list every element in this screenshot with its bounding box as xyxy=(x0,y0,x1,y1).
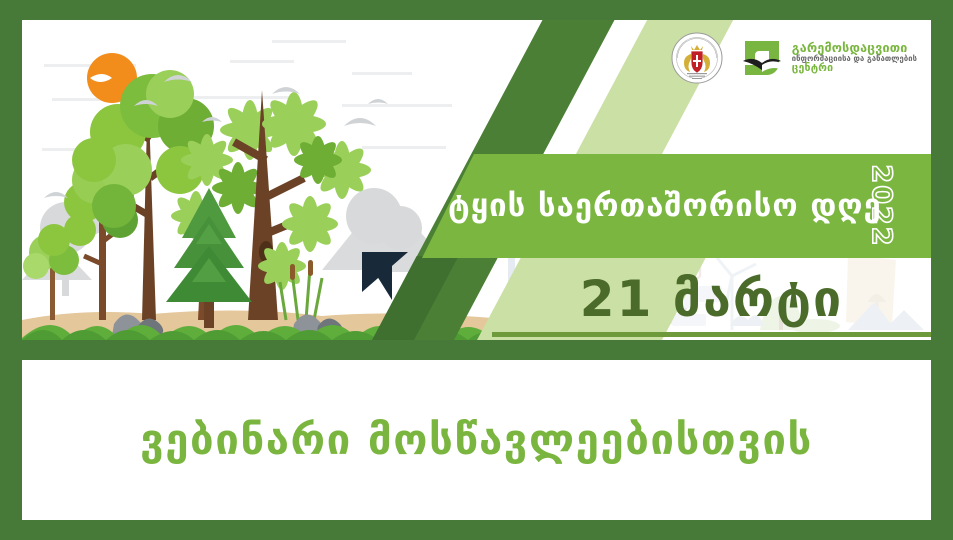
event-date: 21 მარტი xyxy=(580,274,843,324)
webinar-subtitle: ვებინარი მოსწავლეებისთვის xyxy=(140,419,813,461)
logo-group: გარემოსდაცვითი ინფორმაციისა და განათლები… xyxy=(671,32,917,84)
eiec-logo: გარემოსდაცვითი ინფორმაციისა და განათლები… xyxy=(739,35,917,81)
date-row: 21 მარტი xyxy=(492,258,931,340)
eiec-wordmark: გარემოსდაცვითი ინფორმაციისა და განათლები… xyxy=(792,41,917,75)
poster-root: ტყის საერთაშორისო დღე 2022 21 მარტი xyxy=(0,0,953,540)
event-title: ტყის საერთაშორისო დღე xyxy=(448,191,882,222)
year-label: 2022 xyxy=(866,164,897,247)
georgia-ministry-seal-icon xyxy=(671,32,723,84)
eiec-book-icon xyxy=(739,35,785,81)
top-card: ტყის საერთაშორისო დღე 2022 21 მარტი xyxy=(22,20,931,340)
bottom-card: ვებინარი მოსწავლეებისთვის xyxy=(22,360,931,520)
title-band: ტყის საერთაშორისო დღე 2022 xyxy=(422,154,931,258)
date-underline xyxy=(492,332,931,337)
eiec-line-1: გარემოსდაცვითი xyxy=(792,41,917,55)
eiec-line-3: ცენტრი xyxy=(792,63,917,75)
navy-triangle-left xyxy=(362,252,392,300)
